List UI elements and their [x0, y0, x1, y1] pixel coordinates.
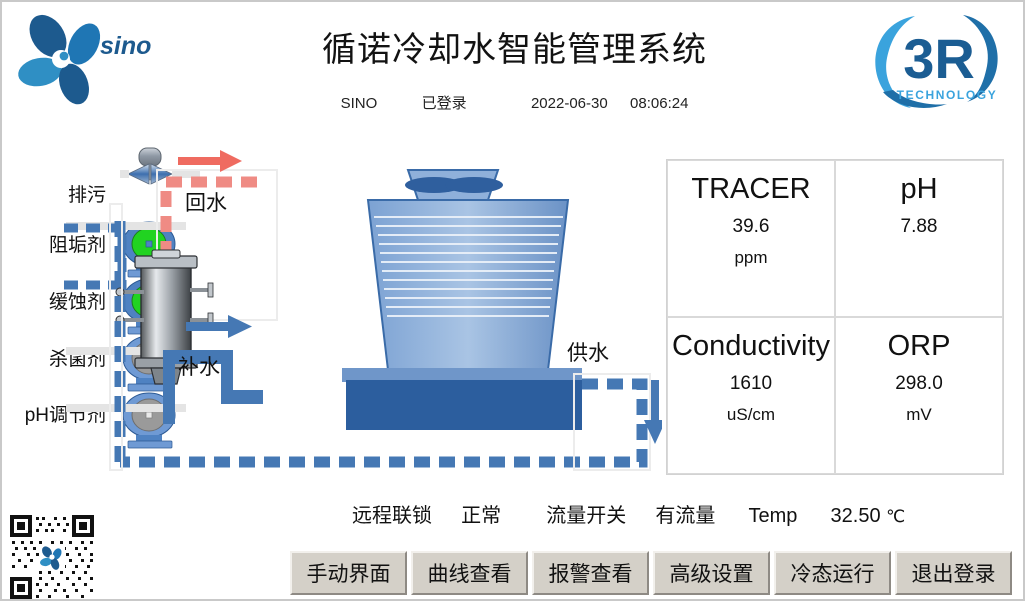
- readout-value: 298.0: [895, 374, 943, 393]
- temperature-unit: ℃: [886, 507, 905, 527]
- temperature-label: Temp: [749, 505, 798, 528]
- readout-name: pH: [900, 175, 937, 204]
- 3r-technology-logo: 3R TECHNOLOGY: [863, 6, 1015, 114]
- advanced-settings-button[interactable]: 高级设置: [653, 551, 770, 595]
- readout-value: 39.6: [733, 217, 770, 236]
- readout-value: 7.88: [901, 217, 938, 236]
- readout-orp[interactable]: ORP 298.0 mV: [835, 317, 1003, 474]
- arrow-return-water: [178, 150, 242, 172]
- vendor-name: 3R: [903, 27, 975, 90]
- trend-curve-button[interactable]: 曲线查看: [411, 551, 528, 595]
- pipe-dosing-feed: [64, 228, 122, 302]
- label-makeup-water: 补水: [178, 356, 220, 379]
- measurement-panel: TRACER 39.6 ppm pH 7.88 Conductivity 161…: [666, 159, 1004, 475]
- label-return-water: 回水: [185, 192, 227, 215]
- readout-name: Conductivity: [672, 332, 830, 361]
- cold-start-button[interactable]: 冷态运行: [774, 551, 891, 595]
- hmi-screen: sino 循诺冷却水智能管理系统 SINO 已登录 2022-06-30 08:…: [0, 0, 1025, 601]
- label-supply-water: 供水: [567, 342, 609, 365]
- remote-interlock-label: 远程联锁: [352, 499, 432, 528]
- user-name: SINO: [341, 95, 378, 112]
- alarm-view-button[interactable]: 报警查看: [532, 551, 649, 595]
- system-date: 2022-06-30: [531, 95, 608, 112]
- remote-interlock-value: 正常: [461, 499, 501, 528]
- readout-ph[interactable]: pH 7.88: [835, 160, 1003, 317]
- manual-interface-button[interactable]: 手动界面: [290, 551, 407, 595]
- flow-switch-label: 流量开关: [546, 499, 626, 528]
- readout-unit: mV: [906, 406, 932, 423]
- readout-name: ORP: [888, 332, 951, 361]
- system-time: 08:06:24: [630, 95, 688, 112]
- readout-unit: ppm: [734, 249, 767, 266]
- logout-button[interactable]: 退出登录: [895, 551, 1012, 595]
- system-status-bar: 远程联锁 正常 流量开关 有流量 Temp 32.50 ℃: [352, 499, 1017, 528]
- qr-code[interactable]: [6, 511, 98, 601]
- process-flow-diagram: 回水 补水: [2, 122, 662, 492]
- readout-tracer[interactable]: TRACER 39.6 ppm: [667, 160, 835, 317]
- navigation-button-bar: 手动界面 曲线查看 报警查看 高级设置 冷态运行 退出登录: [290, 551, 1012, 595]
- cooling-tower-icon: [342, 170, 582, 430]
- readout-name: TRACER: [691, 175, 810, 204]
- readout-conductivity[interactable]: Conductivity 1610 uS/cm: [667, 317, 835, 474]
- vendor-subtitle: TECHNOLOGY: [897, 88, 998, 102]
- readout-value: 1610: [730, 374, 772, 393]
- login-state: 已登录: [422, 92, 467, 113]
- tower-basin-lip: [342, 368, 582, 382]
- flow-switch-value: 有流量: [655, 499, 715, 528]
- temperature-value: 32.50: [831, 505, 881, 528]
- fan-blade-right: [445, 177, 503, 193]
- tower-basin: [346, 380, 582, 430]
- readout-unit: uS/cm: [727, 406, 775, 423]
